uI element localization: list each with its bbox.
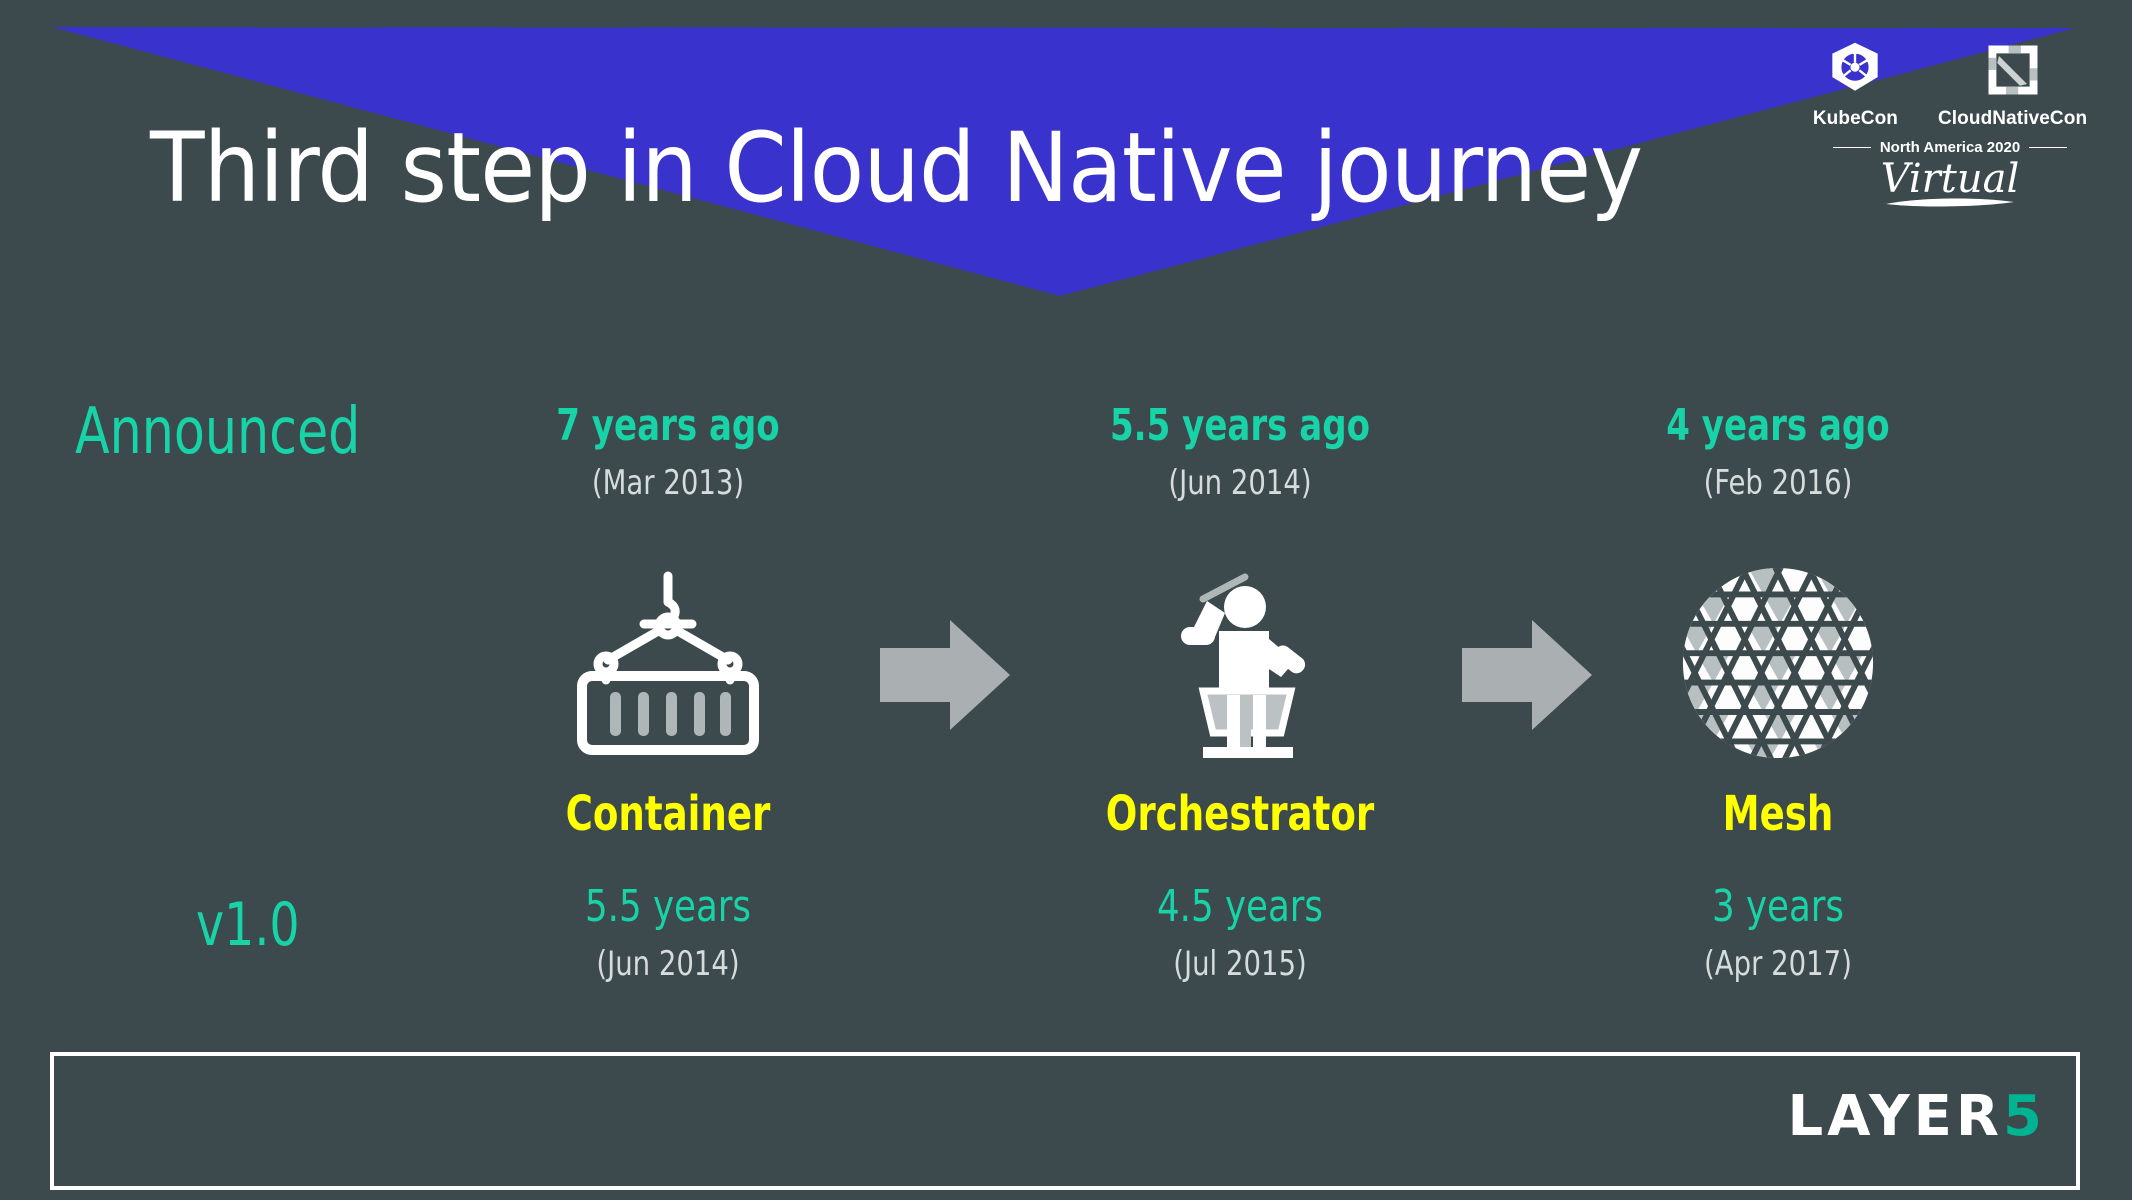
cloudnativecon-square-icon [1985, 42, 2041, 103]
v1-cell-container: 5.5 years (Jun 2014) [458, 885, 878, 981]
tech-label-container: Container [487, 790, 848, 838]
announced-ago-mesh: 4 years ago [1597, 404, 1958, 448]
announced-cell-orchestrator: 5.5 years ago (Jun 2014) [1030, 404, 1450, 500]
row-label-v1: v1.0 [196, 895, 300, 955]
kubecon-cloudnativecon-logo: KubeCon CloudNativeCon [1820, 40, 2080, 210]
footer-bar [50, 1052, 2080, 1190]
row-label-announced: Announced [75, 400, 360, 464]
v1-date-orchestrator: (Jul 2015) [1051, 947, 1429, 981]
v1-cell-orchestrator: 4.5 years (Jul 2015) [1030, 885, 1450, 981]
layer5-logo: LAYER5 [1787, 1088, 2046, 1146]
edition-label: North America 2020 [1880, 139, 2020, 156]
announced-date-orchestrator: (Jun 2014) [1051, 466, 1429, 500]
v1-date-mesh: (Apr 2017) [1589, 947, 1967, 981]
shipping-container-icon [568, 568, 768, 763]
tech-cell-orchestrator: Orchestrator [1030, 790, 1450, 838]
layer5-wordmark: LAYER [1787, 1084, 2003, 1149]
v1-cell-mesh: 3 years (Apr 2017) [1568, 885, 1988, 981]
v1-years-container: 5.5 years [479, 885, 857, 929]
tech-label-mesh: Mesh [1597, 790, 1958, 838]
cloudnativecon-label: CloudNativeCon [1938, 108, 2087, 130]
slide-canvas: Third step in Cloud Native journey [0, 0, 2132, 1200]
icon-cell-container [458, 565, 878, 765]
announced-date-mesh: (Feb 2016) [1589, 466, 1967, 500]
edition-rule-left [1833, 147, 1871, 149]
tech-cell-container: Container [458, 790, 878, 838]
kubecon-label: KubeCon [1813, 108, 1898, 130]
conductor-orchestrator-icon [1145, 565, 1335, 765]
icon-cell-orchestrator [1030, 565, 1450, 765]
mesh-circle-icon [1680, 565, 1876, 766]
v1-years-mesh: 3 years [1589, 885, 1967, 929]
icon-cell-mesh [1568, 565, 1988, 765]
v1-date-container: (Jun 2014) [479, 947, 857, 981]
tech-label-orchestrator: Orchestrator [1059, 790, 1420, 838]
edition-rule-right [2029, 147, 2067, 149]
arrow-container-to-orchestrator [880, 620, 1010, 730]
tech-cell-mesh: Mesh [1568, 790, 1988, 838]
v1-years-orchestrator: 4.5 years [1051, 885, 1429, 929]
arrow-right-icon [880, 620, 1010, 730]
kubernetes-helm-icon [1826, 40, 1884, 103]
announced-ago-container: 7 years ago [487, 404, 848, 448]
announced-ago-orchestrator: 5.5 years ago [1059, 404, 1420, 448]
announced-cell-mesh: 4 years ago (Feb 2016) [1568, 404, 1988, 500]
page-title: Third step in Cloud Native journey [150, 112, 1642, 224]
announced-date-container: (Mar 2013) [479, 466, 857, 500]
layer5-numeral: 5 [2003, 1084, 2046, 1149]
conference-format-label: Virtual [1820, 158, 2080, 200]
announced-cell-container: 7 years ago (Mar 2013) [458, 404, 878, 500]
conference-edition: North America 2020 [1820, 139, 2080, 156]
